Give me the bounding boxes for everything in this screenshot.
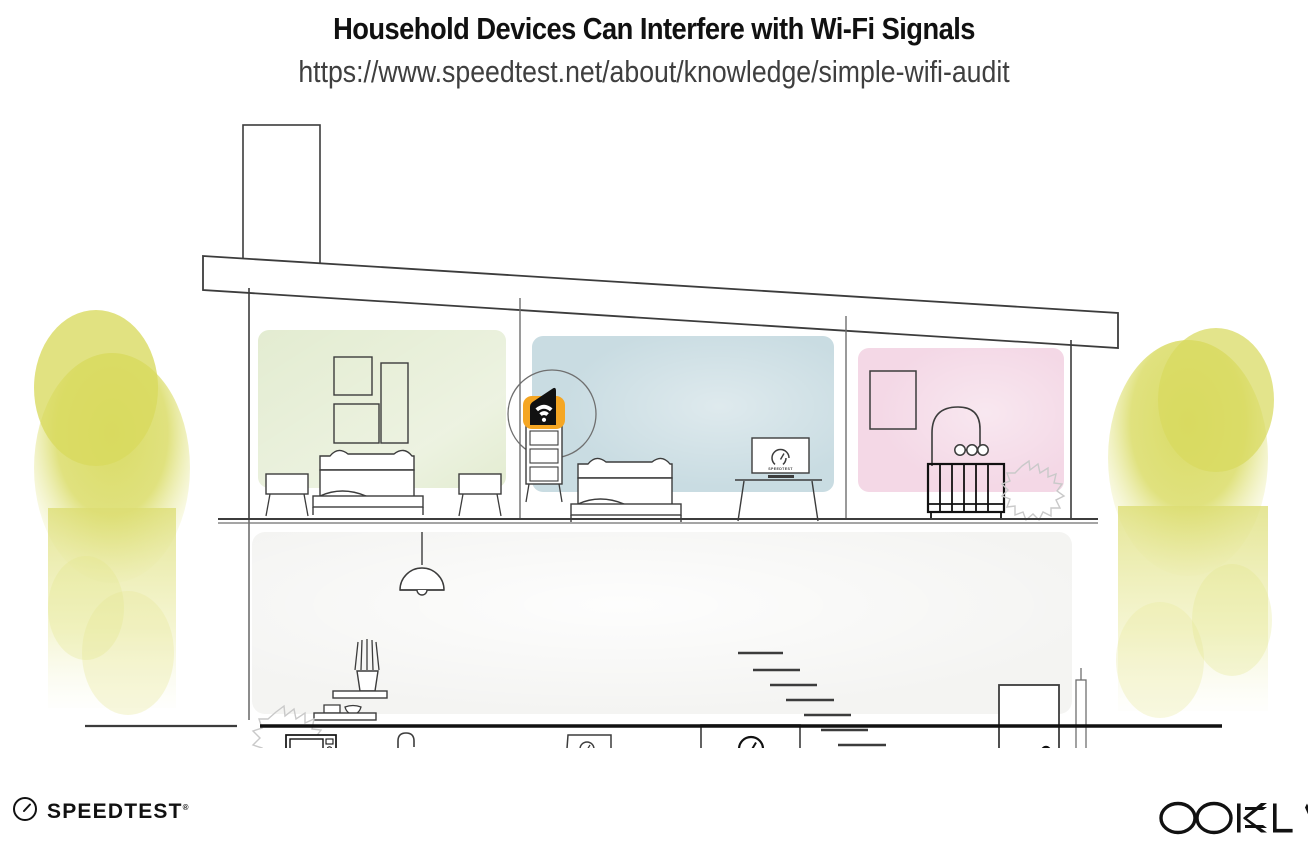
- ookla-k-glyph: [1237, 803, 1267, 833]
- chimney: [243, 125, 320, 277]
- speedtest-registered-mark: ®: [183, 803, 189, 812]
- front-door: [999, 685, 1059, 748]
- nightstand-right: [459, 474, 501, 516]
- room-blue-bedroom: SPEEDTEST: [508, 336, 834, 564]
- footer: SPEEDTEST®: [0, 780, 1308, 861]
- ookla-logo: [1157, 798, 1308, 838]
- room-ground-floor: SPEEDTEST: [249, 520, 1086, 748]
- speedtest-logo: SPEEDTEST®: [12, 796, 189, 827]
- header: Household Devices Can Interfere with Wi-…: [0, 0, 1308, 90]
- sink-faucet: [398, 733, 414, 748]
- room-green-bedroom: [258, 330, 506, 516]
- source-url: https://www.speedtest.net/about/knowledg…: [92, 47, 1217, 90]
- house-cutaway-illustration: SPEEDTEST: [0, 108, 1308, 748]
- microwave: [286, 735, 336, 748]
- foliage-right: [1108, 328, 1274, 718]
- monitor: SPEEDTEST: [752, 438, 809, 478]
- laptop: SPEEDTEST: [560, 735, 616, 748]
- nightstand-left: [266, 474, 308, 516]
- speedtest-wordmark-text: SPEEDTEST: [47, 800, 183, 823]
- infographic-page: Household Devices Can Interfere with Wi-…: [0, 0, 1308, 861]
- page-title: Household Devices Can Interfere with Wi-…: [78, 0, 1229, 47]
- speedtest-wordmark: SPEEDTEST®: [47, 800, 189, 824]
- upper-floor-slab: [218, 519, 1098, 523]
- bed-green: [313, 450, 423, 515]
- speedometer-icon: [12, 796, 38, 827]
- foliage-left: [34, 310, 190, 715]
- monitor-logo-text: SPEEDTEST: [768, 467, 793, 471]
- sidelight-window: [1076, 668, 1086, 748]
- television: SPEEDTEST: [701, 725, 800, 748]
